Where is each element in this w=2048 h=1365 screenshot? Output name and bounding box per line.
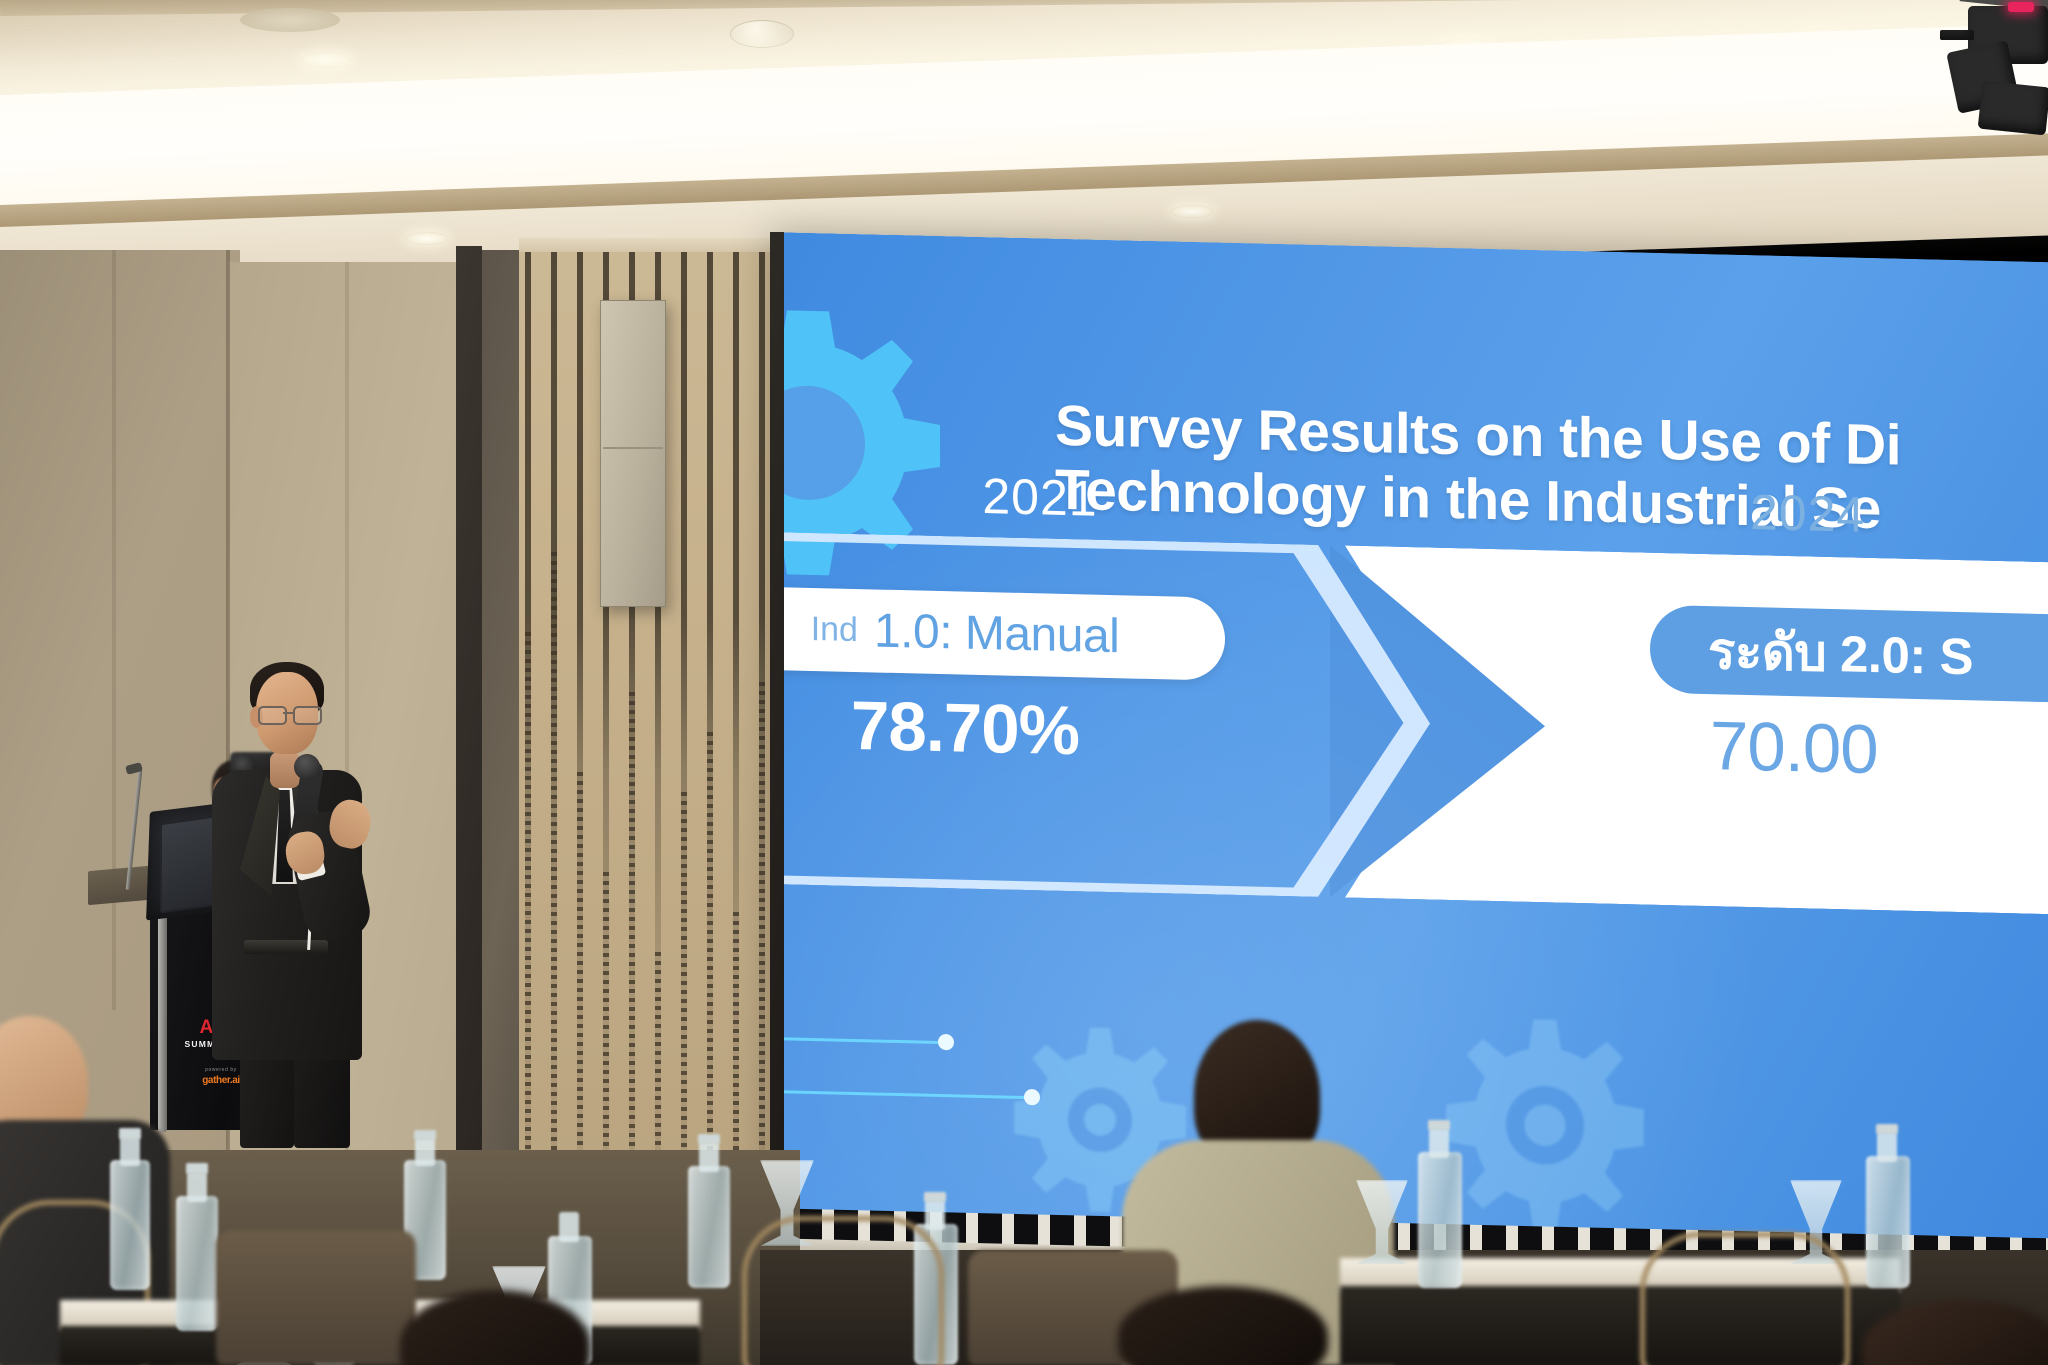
ceiling-downlight bbox=[1170, 205, 1214, 218]
logo-partner-name: gather bbox=[202, 1075, 230, 1086]
wall-mounted-speaker bbox=[600, 300, 666, 607]
bottle-cap bbox=[1876, 1124, 1898, 1134]
water-bottle bbox=[688, 1166, 730, 1288]
chair bbox=[1640, 1232, 1850, 1365]
water-bottle-neck bbox=[925, 1200, 945, 1230]
bottle-cap bbox=[186, 1163, 208, 1174]
ceiling-vent bbox=[240, 8, 340, 32]
glasses-icon bbox=[258, 706, 320, 722]
water-bottle-neck bbox=[1429, 1128, 1449, 1158]
conference-photo: Survey Results on the Use of Di Technolo… bbox=[0, 0, 2048, 1365]
year-label-2024: 2024 bbox=[1750, 483, 2048, 549]
connector-dot bbox=[938, 1034, 954, 1050]
water-bottle-neck bbox=[120, 1136, 140, 1166]
water-bottle bbox=[176, 1196, 218, 1331]
water-bottle bbox=[1866, 1156, 1910, 1288]
water-bottle-neck bbox=[415, 1138, 435, 1166]
percent-2021: 78.70% bbox=[770, 683, 1200, 773]
gear-icon bbox=[770, 289, 958, 596]
speaker-belt bbox=[244, 940, 328, 954]
structural-post bbox=[456, 246, 482, 1206]
year-label-2021: 2021 bbox=[830, 463, 1250, 531]
ceiling-downlight bbox=[405, 232, 449, 245]
water-bottle-neck bbox=[187, 1172, 207, 1202]
bottle-cap bbox=[1428, 1120, 1450, 1130]
stage-light-indicator bbox=[2008, 2, 2034, 12]
pill-label-2021: 1.0: Manual bbox=[874, 603, 1119, 664]
chair bbox=[216, 1230, 416, 1365]
podium-leg bbox=[158, 900, 167, 1132]
water-bottle bbox=[110, 1160, 150, 1290]
smoke-detector-icon bbox=[730, 20, 794, 48]
metric-pill-2021: Ind 1.0: Manual bbox=[770, 585, 1225, 680]
water-bottle-neck bbox=[1877, 1132, 1897, 1162]
gear-icon bbox=[1430, 1008, 1660, 1243]
bottle-cap bbox=[119, 1128, 141, 1139]
stage-light-arm bbox=[1940, 30, 1974, 40]
logo-partner-accent: .ai bbox=[230, 1075, 240, 1086]
percent-2024: 70.00 bbox=[1710, 706, 1878, 789]
stage-light-fixture bbox=[1978, 81, 2048, 136]
bottle-cap bbox=[698, 1134, 720, 1144]
connector-dot bbox=[1024, 1089, 1040, 1105]
water-bottle bbox=[1418, 1152, 1462, 1288]
bottle-cap bbox=[414, 1130, 436, 1140]
ceiling-downlight bbox=[300, 52, 352, 68]
screen-left-frame bbox=[770, 232, 784, 1217]
water-bottle-neck bbox=[699, 1142, 719, 1172]
metric-pill-2024: ระดับ 2.0: S bbox=[1650, 605, 2048, 705]
chair bbox=[742, 1216, 944, 1365]
pill-prefix-2021: Ind bbox=[811, 610, 858, 650]
water-bottle-neck bbox=[559, 1212, 579, 1242]
projection-screen: Survey Results on the Use of Di Technolo… bbox=[770, 232, 2048, 1262]
bottle-cap bbox=[924, 1192, 946, 1202]
